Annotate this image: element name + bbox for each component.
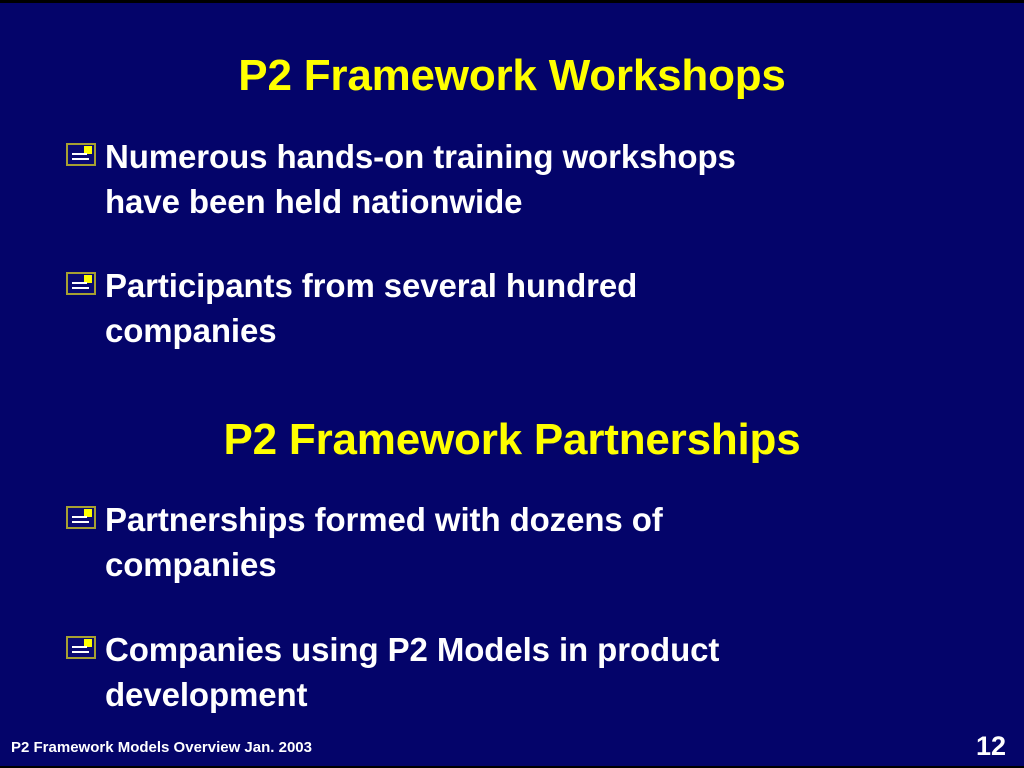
bullet-line-1: Companies using P2 Models in product (105, 631, 719, 668)
bullet-item: Partnerships formed with dozens of compa… (62, 497, 992, 587)
footer-label: P2 Framework Models Overview Jan. 2003 (11, 738, 312, 758)
bullet-icon-line (72, 516, 87, 518)
bullet-icon-line (72, 287, 89, 289)
bullet-icon-line (72, 158, 89, 160)
page-number: 12 (976, 731, 1006, 761)
bullet-line-2: companies (105, 542, 992, 587)
bullet-icon-line (72, 282, 87, 284)
document-bullet-icon (66, 636, 96, 659)
bullet-line-1: Partnerships formed with dozens of (105, 501, 663, 538)
document-bullet-icon (66, 506, 96, 529)
bullet-text: Participants from several hundred compan… (62, 263, 992, 353)
bullet-line-1: Numerous hands-on training workshops (105, 138, 736, 175)
bullet-icon-line (72, 646, 87, 648)
section-heading: P2 Framework Partnerships (0, 415, 1024, 465)
bullet-item: Numerous hands-on training workshops hav… (62, 134, 992, 224)
slide-canvas: P2 Framework Workshops Numerous hands-on… (0, 0, 1024, 768)
document-bullet-icon (66, 143, 96, 166)
document-bullet-icon (66, 272, 96, 295)
bullet-line-2: have been held nationwide (105, 179, 992, 224)
bullet-line-1: Participants from several hundred (105, 267, 637, 304)
bullet-icon-line (72, 521, 89, 523)
bullet-icon-line (72, 651, 89, 653)
bullet-text: Partnerships formed with dozens of compa… (62, 497, 992, 587)
bullet-text: Companies using P2 Models in product dev… (62, 627, 992, 717)
page-title: P2 Framework Workshops (0, 51, 1024, 101)
bullet-line-2: development (105, 672, 992, 717)
bullet-icon-line (72, 153, 87, 155)
bullet-text: Numerous hands-on training workshops hav… (62, 134, 992, 224)
bullet-line-2: companies (105, 308, 992, 353)
bullet-item: Participants from several hundred compan… (62, 263, 992, 353)
bullet-item: Companies using P2 Models in product dev… (62, 627, 992, 717)
